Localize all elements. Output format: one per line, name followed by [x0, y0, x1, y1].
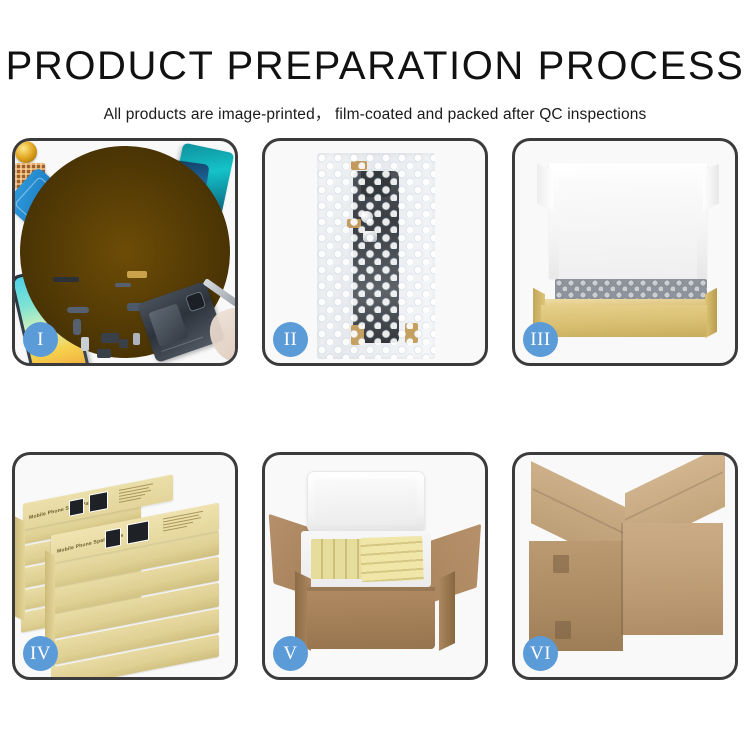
- small-part-taptic: [97, 349, 111, 358]
- box-spec-lines: [119, 483, 155, 505]
- carton-tape-upper: [553, 555, 569, 573]
- kraft-stack-side-face: [15, 517, 25, 622]
- small-part-strip: [53, 277, 79, 282]
- gold-coil-part-graphic: [15, 141, 37, 163]
- process-step-3[interactable]: III: [512, 138, 738, 366]
- box-print-swatch: [105, 528, 121, 549]
- carton-corner-edge: [621, 523, 623, 635]
- process-step-1[interactable]: I: [12, 138, 238, 366]
- carton-front-wall: [307, 587, 435, 649]
- step-badge: II: [273, 322, 308, 357]
- yellow-boxes-inside: [360, 536, 423, 582]
- step-badge: I: [23, 322, 58, 357]
- step-badge: V: [273, 636, 308, 671]
- white-lid-inner-face: [559, 179, 697, 279]
- small-part-chip: [119, 339, 128, 348]
- bubble-wrap-bag-graphic: [317, 153, 435, 359]
- process-step-5[interactable]: V: [262, 452, 488, 680]
- foam-box-lid-graphic: [307, 471, 425, 533]
- small-part-screw-post: [133, 333, 140, 345]
- process-step-4[interactable]: Mobile Phone Spare Parts Mobile Phone Sp…: [12, 452, 238, 680]
- page-subtitle: All products are image-printed， film-coa…: [0, 86, 750, 124]
- box-spec-lines: [163, 510, 205, 533]
- step-badge: VI: [523, 636, 558, 671]
- kraft-tray-front: [541, 305, 707, 337]
- process-step-grid: I II: [12, 138, 738, 680]
- process-step-6[interactable]: VI: [512, 452, 738, 680]
- step-badge: IV: [23, 636, 58, 671]
- box-print-swatch: [89, 491, 108, 513]
- small-part-flex-cable-b: [73, 319, 81, 335]
- header: PRODUCT PREPARATION PROCESS All products…: [0, 0, 750, 124]
- process-step-2[interactable]: II: [262, 138, 488, 366]
- page-title: PRODUCT PREPARATION PROCESS: [0, 0, 750, 86]
- small-part-speaker: [101, 333, 119, 343]
- carton-side-face: [623, 523, 723, 635]
- carton-right-wall: [439, 571, 455, 651]
- small-part-gold-flex: [127, 271, 147, 278]
- small-part-camera-module: [81, 337, 89, 351]
- small-part-connector: [115, 283, 131, 287]
- product-preparation-infographic: PRODUCT PREPARATION PROCESS All products…: [0, 0, 750, 750]
- carton-front-face: [529, 541, 623, 651]
- step-badge: III: [523, 322, 558, 357]
- bubble-texture: [317, 153, 435, 359]
- box-print-swatch: [127, 520, 149, 544]
- small-part-flex-cable-a: [67, 307, 89, 313]
- carton-tape-lower: [555, 621, 571, 639]
- box-print-swatch: [69, 498, 84, 517]
